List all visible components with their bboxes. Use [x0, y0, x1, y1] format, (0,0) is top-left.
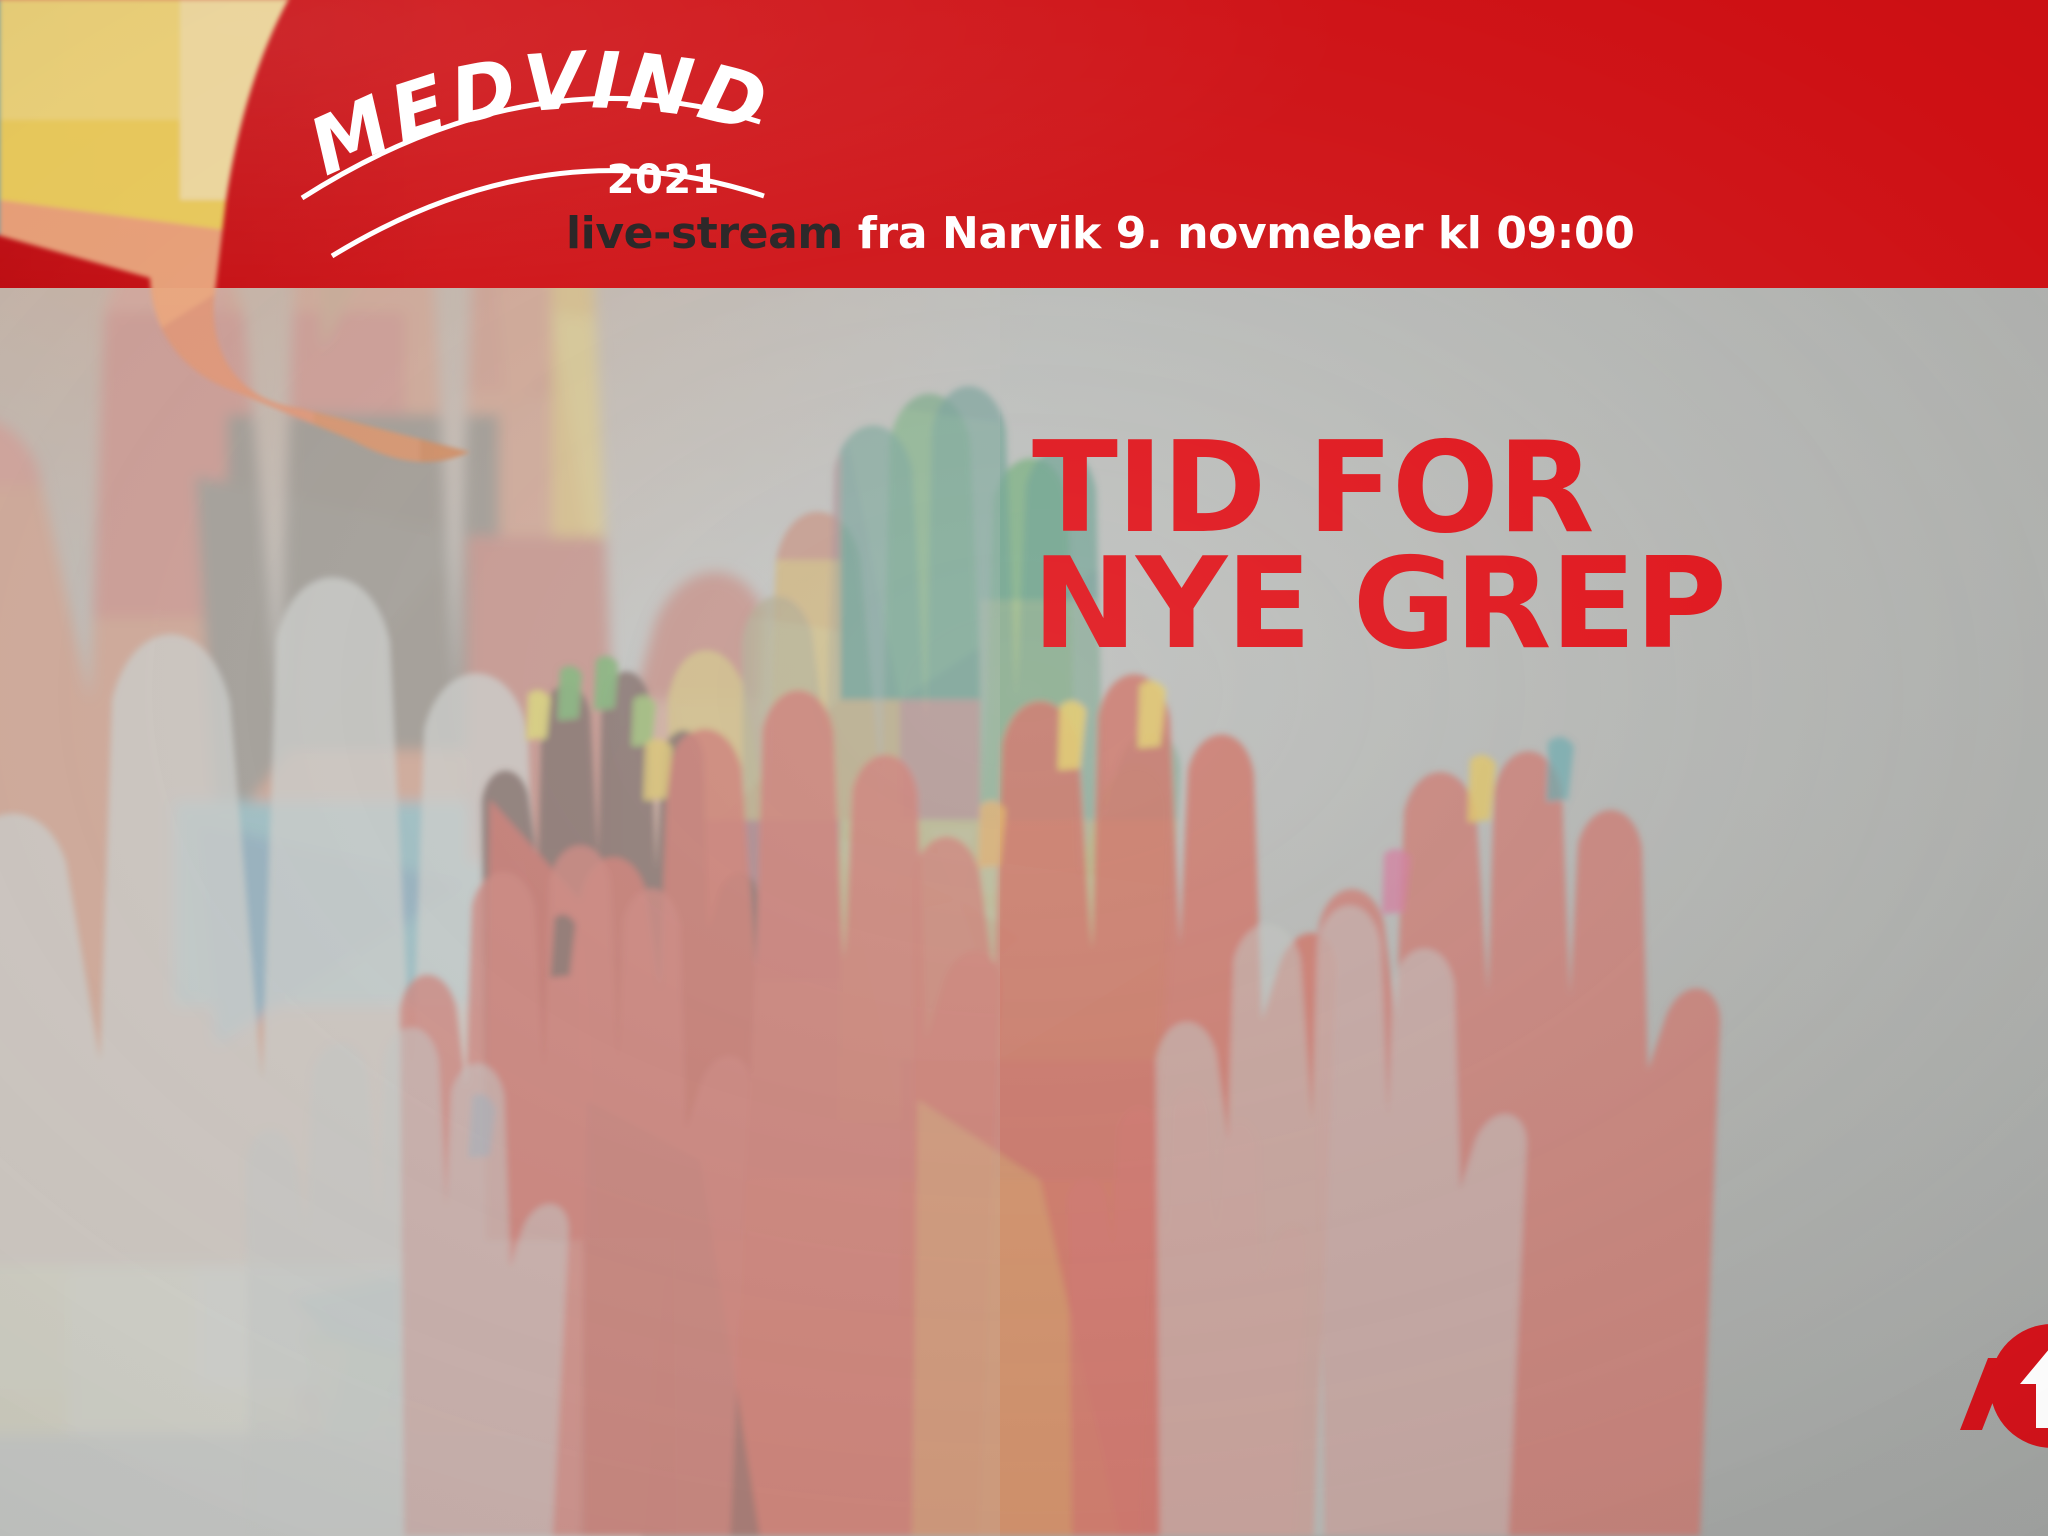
- tagline-rest-spacer: [843, 208, 858, 259]
- tagline-rest: fra Narvik 9. novmeber kl 09:00: [858, 208, 1635, 259]
- red-circle-slash-logo-icon: [1932, 1300, 2048, 1470]
- banner-tagline: live-stream fra Narvik 9. novmeber kl 09…: [566, 212, 1634, 256]
- tagline-emphasis: live-stream: [566, 208, 843, 259]
- poster-canvas: MEDVIND 2021 live-stream fra Narvik 9. n…: [0, 0, 2048, 1536]
- logo-year: 2021: [300, 157, 720, 203]
- page-title: TID FOR NYE GREP: [1032, 430, 1726, 662]
- headline-line-2: NYE GREP: [1032, 546, 1726, 662]
